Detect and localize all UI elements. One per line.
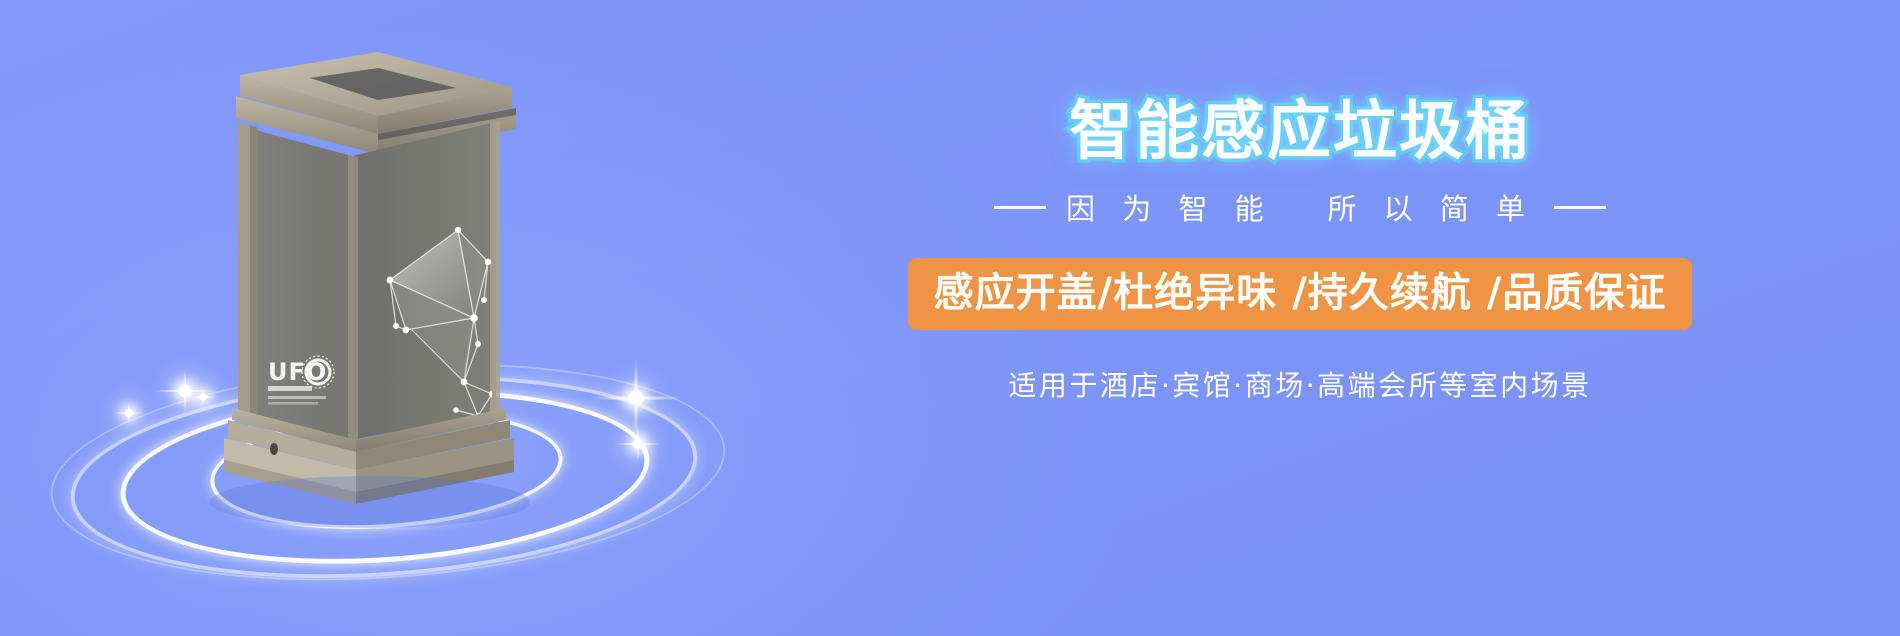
rule-right (1554, 206, 1606, 209)
subtitle-row: 因 为 智 能 所 以 简 单 (860, 186, 1740, 228)
page-title: 智能感应垃圾桶 (860, 100, 1740, 164)
bin-left-trim-post (238, 122, 250, 415)
brand-logo: UFO (268, 356, 334, 405)
smart-trash-bin-illustration: UFO (60, 30, 760, 600)
rule-left (994, 206, 1046, 209)
bin-right-trim-post (490, 121, 500, 413)
bin-contact-shadow (210, 476, 530, 528)
product-scene: UFO (60, 30, 760, 600)
svg-text:UFO: UFO (268, 358, 327, 386)
product-banner: UFO (0, 0, 1900, 636)
bin-lock-detail (270, 443, 278, 455)
bin-left-trim-post-inner (250, 125, 258, 417)
feature-bar-wrap: 感应开盖/杜绝异味 /持久续航 /品质保证 (860, 228, 1740, 330)
bin-body-front-face (248, 128, 352, 440)
usage-scenario-line: 适用于酒店·宾馆·商场·高端会所等室内场景 (860, 364, 1740, 404)
marketing-copy-block: 智能感应垃圾桶 因 为 智 能 所 以 简 单 感应开盖/杜绝异味 /持久续航 … (860, 100, 1740, 404)
feature-highlight-bar: 感应开盖/杜绝异味 /持久续航 /品质保证 (908, 258, 1693, 330)
subtitle: 因 为 智 能 所 以 简 单 (1066, 186, 1534, 228)
bin-corner-edge (348, 154, 358, 440)
